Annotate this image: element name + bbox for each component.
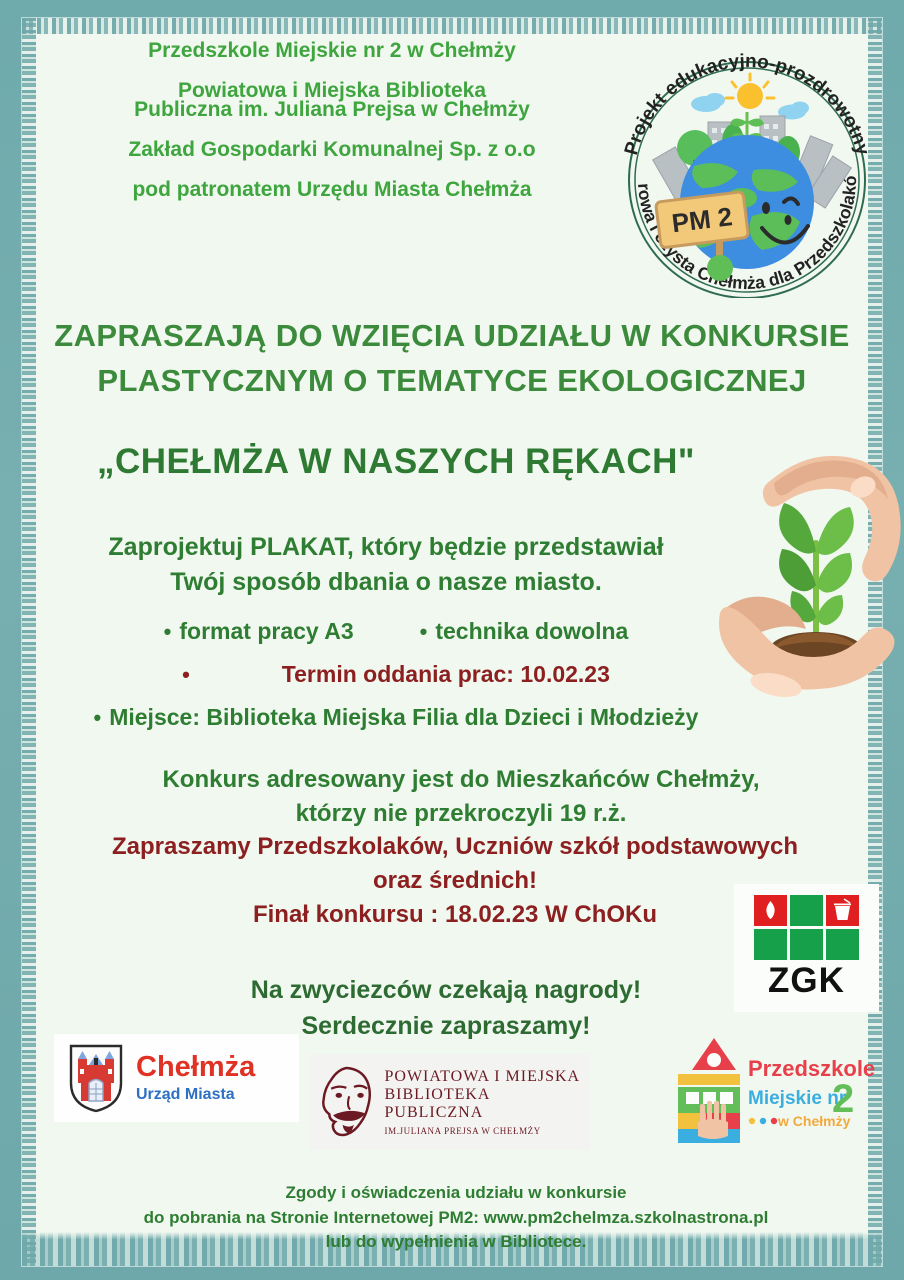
zgk-cell-green-1 — [790, 895, 823, 926]
zgk-wordmark: ZGK — [768, 961, 845, 1001]
pm2-project-logo: Projekt edukacyjno-prozdrowotny „Zdrowa … — [602, 30, 892, 298]
biblioteka-wordmark-block: POWIATOWA I MIEJSKA BIBLIOTEKA PUBLICZNA… — [385, 1068, 583, 1136]
organiser-line-4: pod patronatem Urzędu Miasta Chełmża — [52, 179, 612, 200]
poster-root: Przedszkole Miejskie nr 2 w Chełmży Powi… — [0, 0, 904, 1280]
bullet-row-place: • Miejsce: Biblioteka Miejska Filia dla … — [36, 704, 756, 731]
organiser-line-3: Zakład Gospodarki Komunalnej Sp. z o.o — [52, 139, 612, 160]
biblioteka-line-3: IM.JULIANA PREJSA W CHEŁMŻY — [385, 1126, 583, 1136]
przedszkole-word-3: w Chełmży — [777, 1113, 851, 1129]
instructions-block: Zaprojektuj PLAKAT, który będzie przedst… — [36, 530, 736, 599]
chelmza-wordmark-block: Chełmża Urząd Miasta — [136, 1053, 255, 1104]
bullet-dot-icon-3: • — [182, 664, 190, 686]
bullet-row-format-technique: • format pracy A3 • technika dowolna — [36, 618, 756, 645]
chelmza-coat-of-arms — [68, 1043, 124, 1113]
bullet-technique-label: technika dowolna — [435, 618, 628, 645]
zgk-grid — [754, 895, 859, 960]
closing-line-1: Na zwyciezców czekają nagrody! — [36, 973, 856, 1009]
przedszkole-logo: Przedszkole Miejskie nr 2 w Chełmży — [656, 1030, 882, 1150]
bullet-dot-icon-2: • — [420, 621, 428, 643]
biblioteka-logo: POWIATOWA I MIEJSKA BIBLIOTEKA PUBLICZNA… — [310, 1054, 590, 1150]
prejs-portrait-icon — [318, 1062, 379, 1142]
contest-title: „CHEŁMŻA W NASZYCH RĘKACH" — [46, 442, 746, 482]
audience-line-3: Zapraszamy Przedszkolaków, Uczniów szkół… — [30, 830, 880, 864]
biblioteka-line-2: BIBLIOTEKA PUBLICZNA — [385, 1086, 583, 1122]
headline-line-1: ZAPRASZAJĄ DO WZIĘCIA UDZIAŁU W KONKURSI… — [46, 314, 858, 359]
organisers-block: Przedszkole Miejskie nr 2 w Chełmży Powi… — [52, 40, 612, 219]
dots-decoration — [749, 1118, 777, 1124]
bullet-deadline-label: Termin oddania prac: 10.02.23 — [282, 661, 610, 688]
footer-block: Zgody i oświadczenia udziału w konkursie… — [36, 1181, 876, 1255]
chelmza-city-logo: Chełmża Urząd Miasta — [54, 1034, 299, 1122]
bullet-format-label: format pracy A3 — [179, 618, 353, 645]
headline-line-2: PLASTYCZNYM O TEMATYCE EKOLOGICZNEJ — [46, 359, 858, 404]
instructions-line-2: Twój sposób dbania o nasze miasto. — [36, 565, 736, 600]
zgk-logo: ZGK — [734, 884, 879, 1012]
footer-line-3: lub do wypełnienia w Bibliotece. — [36, 1230, 876, 1255]
zgk-cell-green-4 — [826, 929, 859, 960]
biblioteka-line-1: POWIATOWA I MIEJSKA — [385, 1068, 583, 1086]
footer-line-1: Zgody i oświadczenia udziału w konkursie — [36, 1181, 876, 1206]
audience-line-1: Konkurs adresowany jest do Mieszkańców C… — [36, 763, 886, 797]
organiser-line-1: Przedszkole Miejskie nr 2 w Chełmży — [52, 40, 612, 61]
zgk-cell-flame — [754, 895, 787, 926]
headline-block: ZAPRASZAJĄ DO WZIĘCIA UDZIAŁU W KONKURSI… — [46, 314, 858, 404]
organiser-line-2b: Publiczna im. Juliana Prejsa w Chełmży — [52, 99, 612, 120]
chelmza-subtitle: Urząd Miasta — [136, 1086, 255, 1104]
chelmza-name: Chełmża — [136, 1053, 255, 1082]
poster-content: Przedszkole Miejskie nr 2 w Chełmży Powi… — [22, 18, 882, 1266]
instructions-line-1: Zaprojektuj PLAKAT, który będzie przedst… — [36, 530, 736, 565]
audience-line-2: którzy nie przekroczyli 19 r.ż. — [36, 797, 886, 831]
bullet-row-deadline: • Termin oddania prac: 10.02.23 — [36, 661, 756, 688]
zgk-cell-green-3 — [790, 929, 823, 960]
poster-sheet: Przedszkole Miejskie nr 2 w Chełmży Powi… — [22, 18, 882, 1266]
zgk-cell-bin — [826, 895, 859, 926]
bullet-list: • format pracy A3 • technika dowolna • T… — [36, 618, 756, 743]
przedszkole-word-1: Przedszkole — [748, 1056, 875, 1081]
bullet-dot-icon: • — [164, 621, 172, 643]
footer-line-2: do pobrania na Stronie Internetowej PM2:… — [36, 1206, 876, 1231]
audience-green-block: Konkurs adresowany jest do Mieszkańców C… — [36, 763, 886, 830]
colorful-school-house-icon — [678, 1038, 740, 1143]
sun-icon — [726, 74, 774, 109]
bullet-dot-icon-4: • — [94, 707, 102, 729]
zgk-cell-green-2 — [754, 929, 787, 960]
bullet-place-label: Miejsce: Biblioteka Miejska Filia dla Dz… — [109, 704, 698, 731]
